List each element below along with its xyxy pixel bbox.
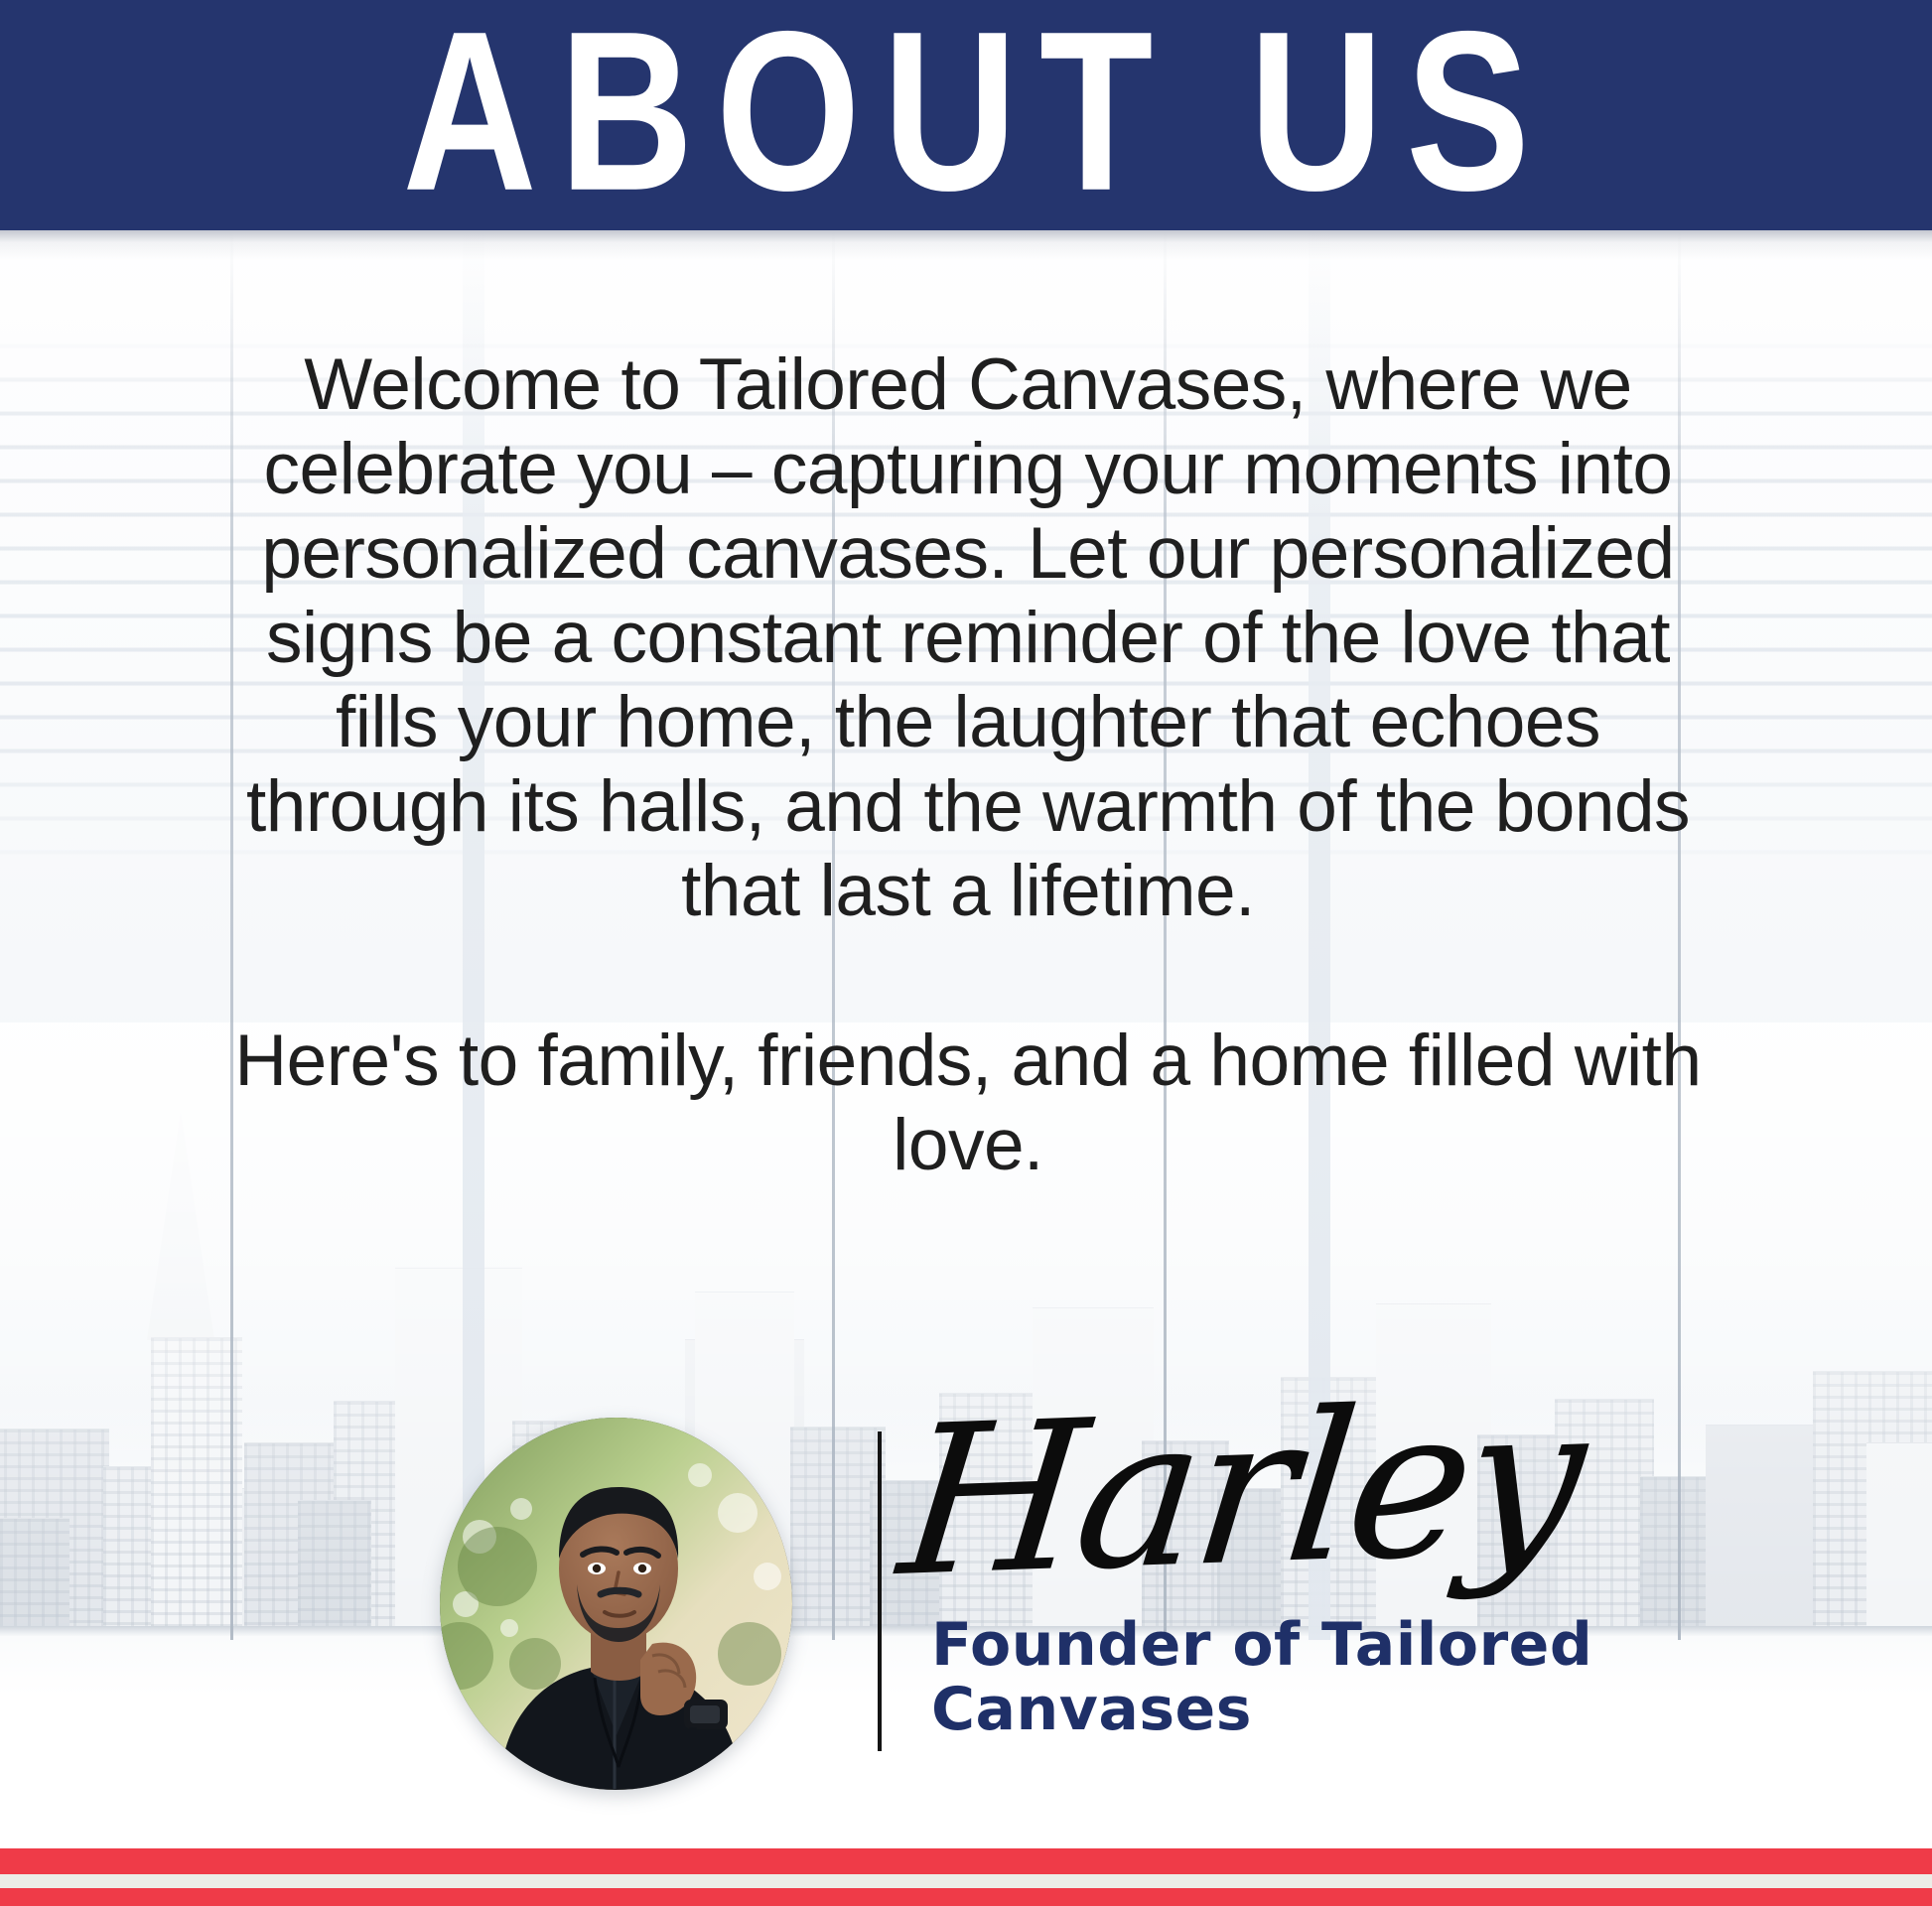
about-us-poster: ABOUT US Welcome to Tailored Canvases, w… <box>0 0 1932 1906</box>
signature-divider <box>878 1431 882 1751</box>
footer-stripe-lower <box>0 1888 1932 1906</box>
founder-role: Founder of Tailored Canvases <box>931 1613 1626 1742</box>
footer-stripe-gap <box>0 1874 1932 1888</box>
paragraph-spacer <box>213 933 1723 1019</box>
footer-stripe-upper <box>0 1848 1932 1874</box>
body-paragraph-2: Here's to family, friends, and a home fi… <box>213 1019 1723 1187</box>
header-banner: ABOUT US <box>0 0 1932 230</box>
body-paragraph-1: Welcome to Tailored Canvases, where we c… <box>213 342 1723 933</box>
page-title: ABOUT US <box>380 0 1552 225</box>
founder-role-line-2: Canvases <box>931 1678 1626 1742</box>
about-us-body: Welcome to Tailored Canvases, where we c… <box>213 342 1723 1187</box>
founder-role-line-1: Founder of Tailored <box>931 1613 1626 1678</box>
signature-block: Harley Founder of Tailored Canvases <box>0 1390 1932 1807</box>
avatar <box>440 1418 792 1790</box>
